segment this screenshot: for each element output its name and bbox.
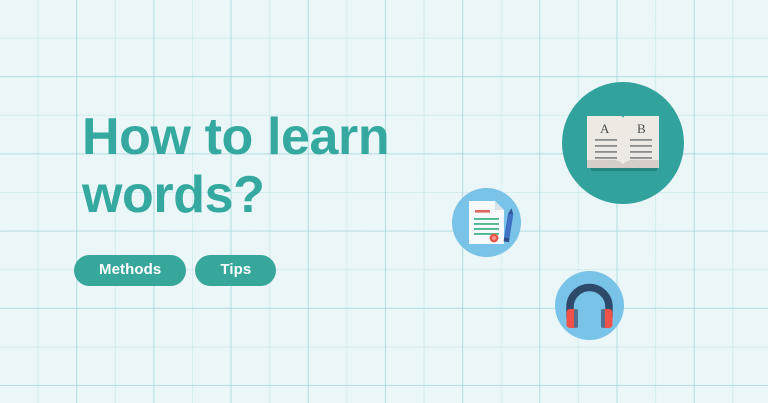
open-book-icon: A B bbox=[562, 82, 684, 204]
learning-banner: How to learn words? Methods Tips A B bbox=[0, 0, 768, 403]
tag-pill-methods[interactable]: Methods bbox=[74, 255, 186, 286]
headphones-icon bbox=[555, 271, 624, 340]
open-book-badge: A B bbox=[562, 82, 684, 204]
document-pen-badge bbox=[452, 188, 521, 257]
book-right-letter: B bbox=[637, 121, 646, 136]
document-pen-icon bbox=[452, 188, 521, 257]
book-left-letter: A bbox=[600, 121, 610, 136]
tag-pill-row: Methods Tips bbox=[74, 255, 276, 286]
headphones-badge bbox=[555, 271, 624, 340]
tag-pill-tips[interactable]: Tips bbox=[195, 255, 276, 286]
page-title: How to learn words? bbox=[82, 108, 452, 224]
